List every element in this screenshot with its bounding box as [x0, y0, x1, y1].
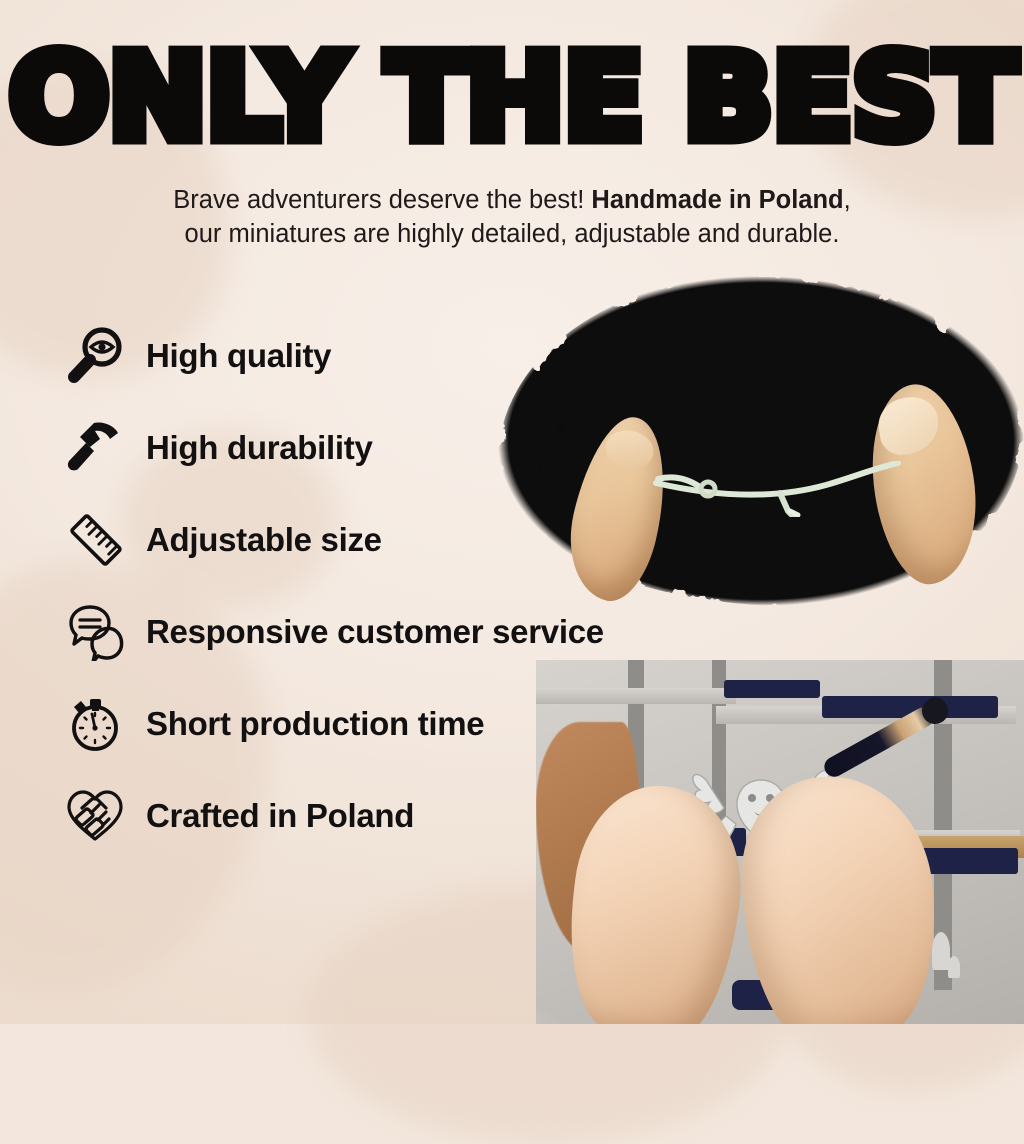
- feature-item-high-durability: High durability: [62, 402, 604, 494]
- subtitle: Brave adventurers deserve the best! Hand…: [0, 184, 1024, 252]
- feature-item-responsive-customer-service: Responsive customer service: [62, 586, 604, 678]
- feature-label: Responsive customer service: [146, 613, 604, 651]
- stopwatch-icon: [62, 693, 130, 755]
- feature-item-short-production-time: Short production time: [62, 678, 604, 770]
- subtitle-line-2: our miniatures are highly detailed, adju…: [0, 218, 1024, 252]
- feature-item-adjustable-size: Adjustable size: [62, 494, 604, 586]
- subtitle-line-1: Brave adventurers deserve the best! Hand…: [0, 184, 1024, 218]
- parts-tray: [724, 680, 820, 698]
- subtitle-text-post: ,: [844, 186, 851, 214]
- feature-item-high-quality: High quality: [62, 310, 604, 402]
- photo-painting-miniature-workshop: [536, 660, 1024, 1024]
- speech-bubbles-icon: [62, 601, 130, 663]
- miniature-on-shelf: [948, 956, 960, 978]
- miniature-part-bending: [648, 461, 908, 517]
- feature-list: High quality High durability: [62, 310, 604, 862]
- heart-handshake-icon: [62, 785, 130, 847]
- feature-item-crafted-in-poland: Crafted in Poland: [62, 770, 604, 862]
- ruler-icon: [62, 509, 130, 571]
- workshop-scene: [536, 660, 1024, 1024]
- feature-label: Short production time: [146, 705, 484, 743]
- page-title: ONLY THE BEST: [0, 0, 1024, 156]
- feature-label: High durability: [146, 429, 373, 467]
- hammer-icon: [62, 417, 130, 479]
- subtitle-text-pre: Brave adventurers deserve the best!: [173, 186, 591, 214]
- magnifier-eye-icon: [62, 325, 130, 387]
- feature-label: Crafted in Poland: [146, 797, 414, 835]
- subtitle-highlight: Handmade in Poland: [591, 186, 843, 214]
- feature-label: High quality: [146, 337, 331, 375]
- feature-label: Adjustable size: [146, 521, 382, 559]
- header: ONLY THE BEST Brave adventurers deserve …: [0, 0, 1024, 252]
